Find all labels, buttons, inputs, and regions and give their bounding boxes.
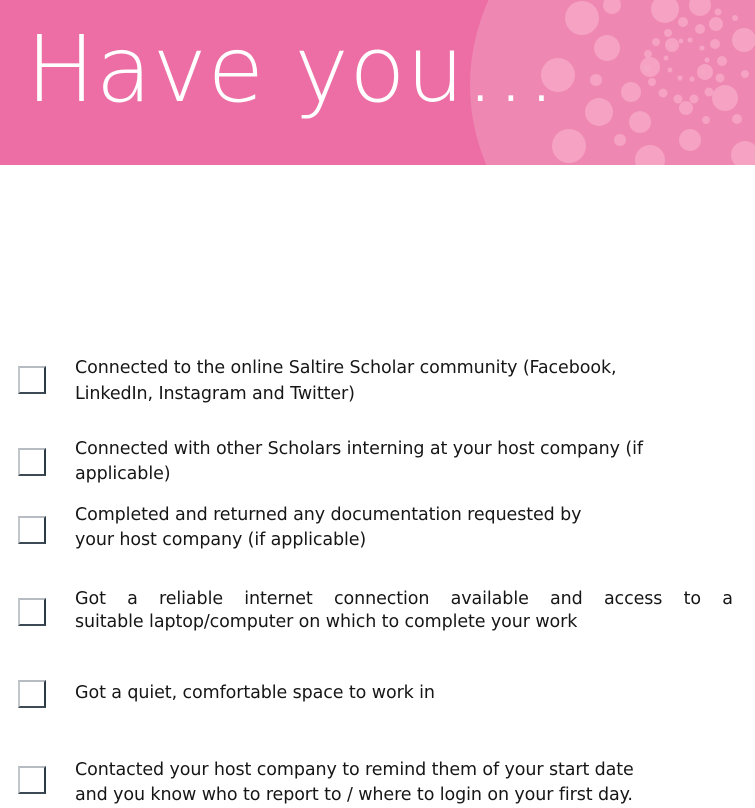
checklist-item-completed-documentation[interactable]: Completed and returned any documentation… bbox=[0, 503, 581, 553]
checklist-item-label: Completed and returned any documentation… bbox=[75, 503, 581, 553]
word: and bbox=[550, 588, 583, 611]
word: a bbox=[722, 588, 733, 611]
checkbox-contacted-host-company[interactable] bbox=[18, 766, 46, 794]
word: connection bbox=[334, 588, 429, 611]
word: reliable bbox=[159, 588, 223, 611]
checklist-item-line-justified: Got a reliable internet connection avail… bbox=[75, 588, 733, 611]
checkbox-connected-other-scholars[interactable] bbox=[18, 448, 46, 476]
checklist-item-line: applicable) bbox=[75, 462, 643, 487]
checklist-item-connected-other-scholars[interactable]: Connected with other Scholars interning … bbox=[0, 437, 643, 487]
checklist-item-label: Got a reliable internet connection avail… bbox=[75, 588, 733, 634]
checkbox-quiet-comfortable-space[interactable] bbox=[18, 680, 46, 708]
checkbox-connected-online-community[interactable] bbox=[18, 366, 46, 394]
checkbox-reliable-internet-and-laptop[interactable] bbox=[18, 598, 46, 626]
checklist-item-label: Contacted your host company to remind th… bbox=[75, 758, 634, 808]
checklist-item-line: Connected to the online Saltire Scholar … bbox=[75, 355, 616, 381]
word: to bbox=[684, 588, 701, 611]
checklist-item-line: suitable laptop/computer on which to com… bbox=[75, 611, 733, 634]
checklist-item-line: Contacted your host company to remind th… bbox=[75, 758, 634, 783]
checklist-item-contacted-host-company[interactable]: Contacted your host company to remind th… bbox=[0, 758, 634, 808]
word: a bbox=[127, 588, 138, 611]
word: Got bbox=[75, 588, 106, 611]
checklist-item-label: Got a quiet, comfortable space to work i… bbox=[75, 680, 435, 706]
checklist-item-line: Got a quiet, comfortable space to work i… bbox=[75, 680, 435, 706]
page-header-banner: Have you… bbox=[0, 0, 755, 165]
checklist-item-line: your host company (if applicable) bbox=[75, 528, 581, 553]
checkbox-completed-documentation[interactable] bbox=[18, 516, 46, 544]
checklist-item-quiet-comfortable-space[interactable]: Got a quiet, comfortable space to work i… bbox=[0, 680, 435, 708]
checklist-item-line: LinkedIn, Instagram and Twitter) bbox=[75, 381, 616, 407]
checklist-item-line: Connected with other Scholars interning … bbox=[75, 437, 643, 462]
checklist-item-connected-online-community[interactable]: Connected to the online Saltire Scholar … bbox=[0, 355, 616, 407]
page-title: Have you… bbox=[26, 16, 557, 125]
checklist-item-line: and you know who to report to / where to… bbox=[75, 783, 634, 808]
checklist-item-line: Completed and returned any documentation… bbox=[75, 503, 581, 528]
word: available bbox=[451, 588, 529, 611]
checklist-item-label: Connected with other Scholars interning … bbox=[75, 437, 643, 487]
word: internet bbox=[244, 588, 312, 611]
checklist-item-reliable-internet-and-laptop[interactable]: Got a reliable internet connection avail… bbox=[0, 588, 733, 634]
word: access bbox=[604, 588, 662, 611]
checklist-item-label: Connected to the online Saltire Scholar … bbox=[75, 355, 616, 407]
